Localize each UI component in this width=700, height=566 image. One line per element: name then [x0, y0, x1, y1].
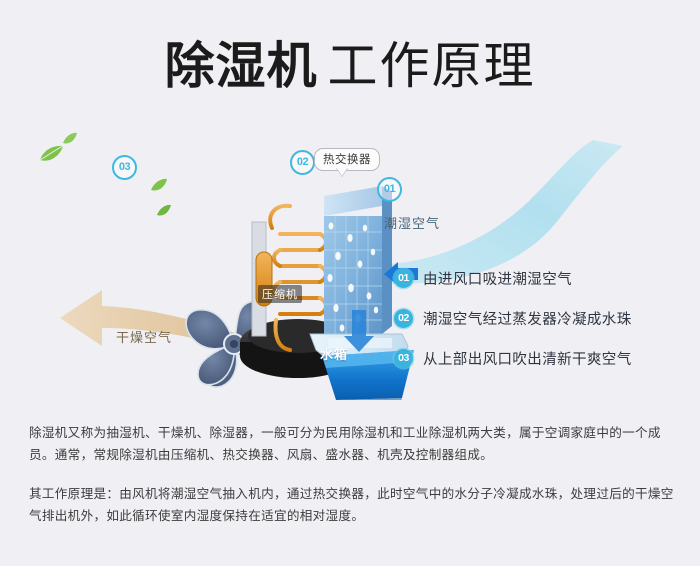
body-copy: 除湿机又称为抽湿机、干燥机、除湿器，一般可分为民用除湿机和工业除湿机两大类，属于… — [29, 422, 679, 527]
label-humid-air: 潮湿空气 — [384, 213, 440, 232]
legend-badge-03: 03 — [394, 349, 413, 368]
list-item: 01 由进风口吸进潮湿空气 — [394, 258, 694, 298]
list-item: 02 潮湿空气经过蒸发器冷凝成水珠 — [394, 298, 694, 338]
paragraph-principle: 其工作原理是：由风机将潮湿空气抽入机内，通过热交换器，此时空气中的水分子冷凝成水… — [29, 483, 679, 527]
legend-text-03: 从上部出风口吹出清新干爽空气 — [423, 348, 632, 369]
list-item: 03 从上部出风口吹出清新干爽空气 — [394, 338, 694, 378]
label-compressor: 压缩机 — [258, 285, 302, 303]
callout-heat-exchanger: 热交换器 — [314, 148, 380, 171]
legend-text-01: 由进风口吸进潮湿空气 — [423, 268, 572, 289]
page-title-light: 工作原理 — [328, 38, 536, 94]
diagram-badge-01: 01 — [377, 177, 402, 202]
page-title: 除湿机工作原理 — [0, 26, 700, 98]
leaf-icon — [62, 132, 78, 146]
label-water-tank: 水箱 — [320, 344, 348, 363]
leaf-icon — [38, 144, 64, 164]
leaf-icon — [150, 178, 168, 193]
legend-badge-01: 01 — [394, 269, 413, 288]
diagram-badge-02: 02 — [290, 150, 315, 175]
callout-pointer-icon — [336, 167, 348, 176]
leaf-icon — [156, 204, 172, 218]
diagram-badge-03: 03 — [112, 155, 137, 180]
label-dry-air: 干燥空气 — [116, 327, 172, 346]
legend-badge-02: 02 — [394, 309, 413, 328]
legend-text-02: 潮湿空气经过蒸发器冷凝成水珠 — [423, 308, 632, 329]
page-title-strong: 除湿机 — [165, 38, 318, 94]
paragraph-definition: 除湿机又称为抽湿机、干燥机、除湿器，一般可分为民用除湿机和工业除湿机两大类，属于… — [29, 422, 679, 466]
legend-list: 01 由进风口吸进潮湿空气 02 潮湿空气经过蒸发器冷凝成水珠 03 从上部出风… — [394, 258, 694, 378]
